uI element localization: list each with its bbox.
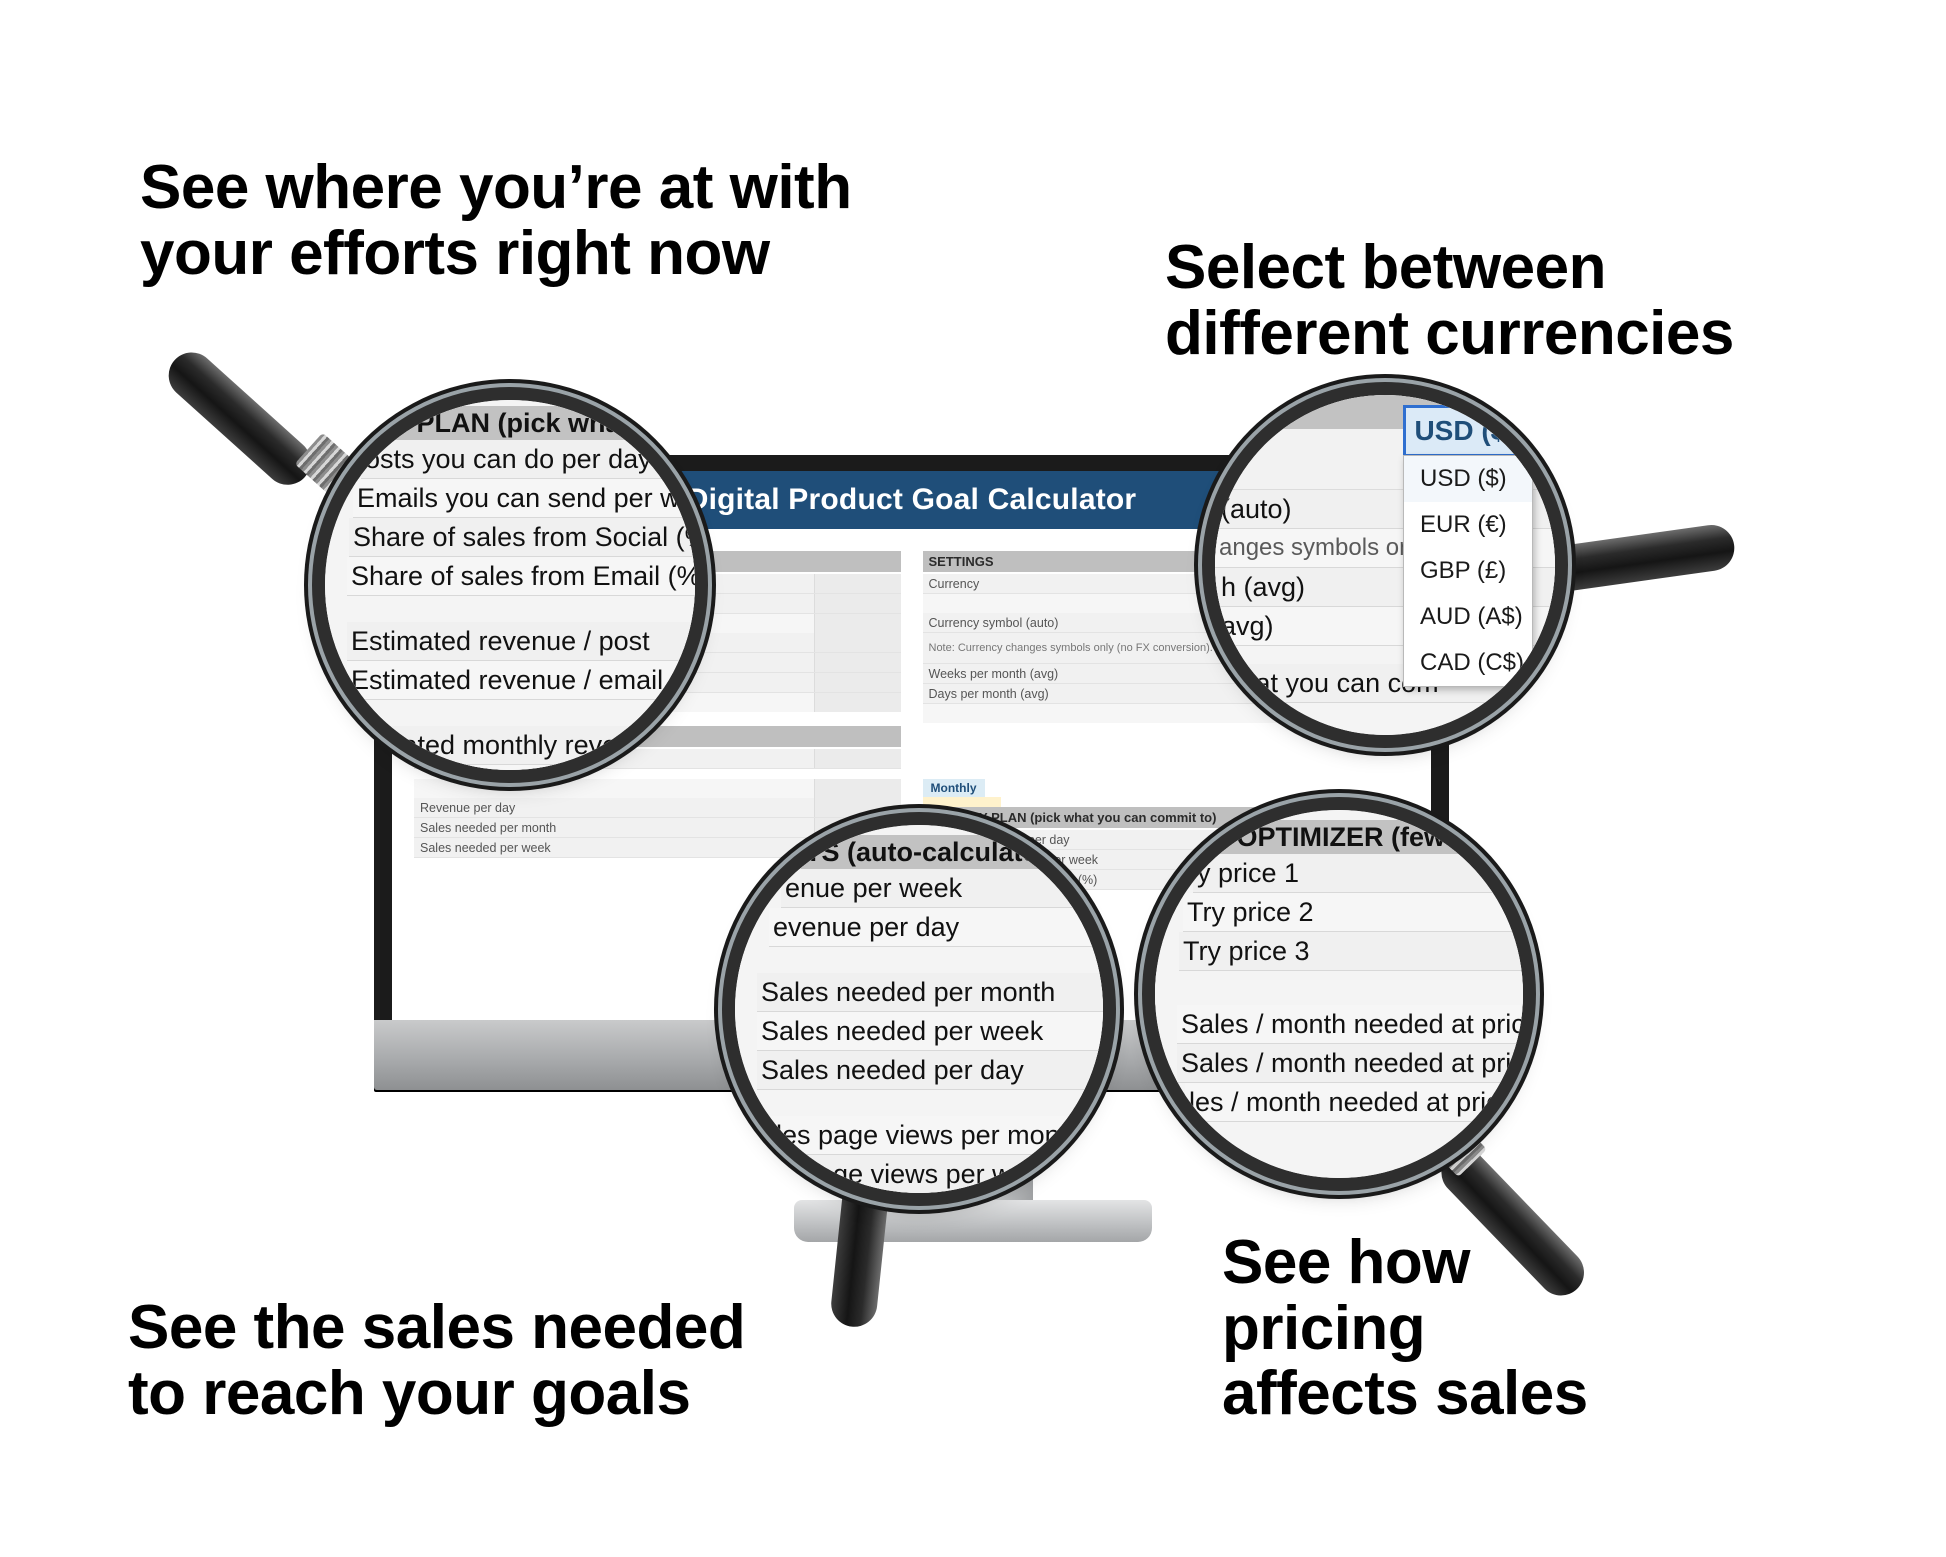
lens-content: TS (auto-calculated) enue per week evenu… <box>735 825 1103 1193</box>
lens-gap-row <box>1155 971 1523 1005</box>
lens-row: ales page views per month <box>757 1116 1103 1155</box>
lens-row: Sales needed per day <box>757 1051 1103 1090</box>
lens-row: Try price 2 <box>1183 893 1523 932</box>
monthly-chip: Monthly <box>923 779 985 797</box>
magnifier-lens: TY PLAN (pick what osts you can do per d… <box>325 400 695 770</box>
lens-row: Sales / month needed at price 2 <box>1177 1044 1523 1083</box>
lens-row: Share of sales from Social (%) <box>349 518 695 557</box>
lens-section-header: TY PLAN (pick what <box>371 406 695 440</box>
row-value-cell[interactable] <box>814 749 901 768</box>
row-value-cell[interactable] <box>814 594 901 613</box>
row-value-cell[interactable] <box>814 574 901 593</box>
magnifier-activity-plan: TY PLAN (pick what osts you can do per d… <box>195 335 755 855</box>
lens-row: osts you can do per day <box>361 440 695 479</box>
magnifier-price-optimizer: E OPTIMIZER (fewe y price 1 Try price 2 … <box>1155 810 1715 1430</box>
currency-selected-cell[interactable]: USD ($) <box>1403 405 1527 457</box>
lens-content: E OPTIMIZER (fewe y price 1 Try price 2 … <box>1155 810 1523 1178</box>
callout-top-left: See where you’re at with your efforts ri… <box>140 155 852 286</box>
lens-row: evenue per day <box>769 908 1103 947</box>
lens-row: s goal (monthly) <box>363 765 695 770</box>
lens-row: stimated monthly revenue (vs goal) <box>349 726 695 765</box>
lens-row: Sales needed per month <box>757 973 1103 1012</box>
magnifier-currency: (auto) anges symbols only (no FX h (avg)… <box>1215 395 1835 815</box>
lens-gap-row <box>735 1090 1103 1116</box>
lens-gap-row <box>325 596 695 622</box>
lens-row: Try price 3 <box>1179 932 1523 971</box>
magnifier-results: TS (auto-calculated) enue per week evenu… <box>735 825 1155 1475</box>
currency-option-aud[interactable]: AUD (A$) <box>1404 594 1532 640</box>
highlight-chip <box>923 797 1001 807</box>
lens-row: les / month needed at price 3 <box>1185 1083 1523 1122</box>
lens-content: TY PLAN (pick what osts you can do per d… <box>325 400 695 770</box>
lens-row: enue per week <box>781 869 1103 908</box>
lens-section-header: E OPTIMIZER (fewe <box>1207 820 1523 854</box>
lens-gap-row <box>735 947 1103 973</box>
lens-row: Estimated revenue / email <box>347 661 695 700</box>
row-value-cell[interactable] <box>814 633 901 652</box>
currency-dropdown-list[interactable]: USD ($) EUR (€) GBP (£) AUD (A$) CAD (C$… <box>1403 455 1533 687</box>
lens-row: y price 1 <box>1193 854 1523 893</box>
lens-gap-row <box>325 700 695 726</box>
lens-row: Emails you can send per week <box>353 479 695 518</box>
lens-section-header: TS (auto-calculated) <box>801 835 1103 869</box>
magnifier-handle <box>159 343 320 494</box>
lens-row: Share of sales from Email (%) <box>347 557 695 596</box>
magnifier-lens: TS (auto-calculated) enue per week evenu… <box>735 825 1103 1193</box>
lens-row: Sales / month needed at price 1 <box>1177 1005 1523 1044</box>
row-value-cell[interactable] <box>814 673 901 692</box>
lens-row: Estimated revenue / post <box>347 622 695 661</box>
magnifier-lens: (auto) anges symbols only (no FX h (avg)… <box>1215 395 1555 735</box>
magnifier-handle <box>1543 522 1738 594</box>
lens-row: es page views per week <box>763 1155 1103 1193</box>
lens-row: Sales needed per week <box>757 1012 1103 1051</box>
callout-top-right: Select between different currencies <box>1165 235 1734 366</box>
magnifier-lens: E OPTIMIZER (fewe y price 1 Try price 2 … <box>1155 810 1523 1178</box>
currency-option-gbp[interactable]: GBP (£) <box>1404 548 1532 594</box>
row-value-cell[interactable] <box>814 653 901 672</box>
currency-option-usd[interactable]: USD ($) <box>1404 456 1532 502</box>
row-value-cell <box>814 798 901 817</box>
callout-bottom-left: See the sales needed to reach your goals <box>128 1295 745 1426</box>
currency-option-cad[interactable]: CAD (C$) <box>1404 640 1532 686</box>
currency-option-eur[interactable]: EUR (€) <box>1404 502 1532 548</box>
